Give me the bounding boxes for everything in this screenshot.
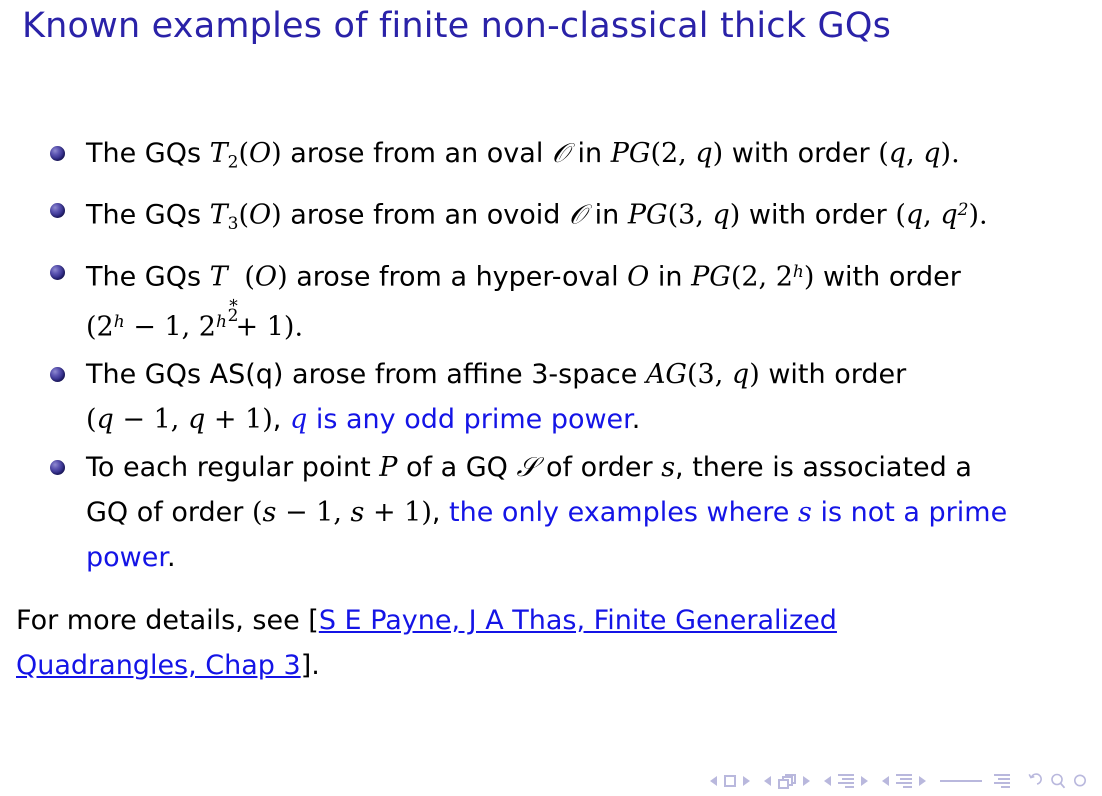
lines-icon[interactable] [838,774,854,788]
nav-group-tools [1024,772,1088,790]
list-item: The GQs T∗2(O) arose from a hyper-oval O… [48,250,1088,349]
reference-close-bracket: ] [301,650,312,681]
nav-group-frame [764,774,810,789]
bullet-text-t3-ovoid: The GQs T3(O) arose from an ovoid 𝒪 in P… [86,188,1088,247]
list-item: The GQs T2(O) arose from an oval 𝒪 in PG… [48,131,1088,185]
nav-group-slide [710,775,750,787]
bullet-sphere-icon [50,367,65,382]
beamer-navigation-bar[interactable] [710,769,1102,793]
circle-icon[interactable] [1074,772,1088,790]
triangle-left-icon[interactable] [824,776,831,786]
bullet-sphere-icon [50,146,65,161]
stacked-frames-icon[interactable] [778,774,796,789]
reference-note: For more details, see [S E Payne, J A Th… [16,598,1016,688]
undo-arrow-icon[interactable] [1024,772,1042,790]
reference-open-bracket: [ [308,605,319,636]
triangle-right-icon[interactable] [919,776,926,786]
list-item: The GQs AS(q) arose from affine 3-space … [48,352,1088,442]
list-item: To each regular point P of a GQ 𝒮 of ord… [48,445,1088,580]
bullet-list: The GQs T2(O) arose from an oval 𝒪 in PG… [48,131,1088,583]
triangle-left-icon[interactable] [764,776,771,786]
bullet-sphere-icon [50,203,65,218]
triangle-right-icon[interactable] [743,776,750,786]
list-item: The GQs T3(O) arose from an ovoid 𝒪 in P… [48,188,1088,247]
lines-icon[interactable] [994,774,1010,788]
triangle-left-icon[interactable] [710,776,717,786]
bullet-text-t2star-hyperoval: The GQs T∗2(O) arose from a hyper-oval O… [86,250,1088,349]
square-icon[interactable] [724,775,736,787]
bullet-sphere-icon [50,265,65,280]
reference-trailing-period: . [311,650,320,681]
triangle-right-icon[interactable] [803,776,810,786]
magnifier-icon[interactable] [1049,772,1067,790]
triangle-right-icon[interactable] [861,776,868,786]
lines-icon[interactable] [896,774,912,788]
nav-divider [940,780,982,782]
reference-lead-text: For more details, see [16,605,308,636]
nav-group-presentation [994,774,1010,788]
nav-group-section [882,774,926,788]
bullet-sphere-icon [50,460,65,475]
page-title: Known examples of finite non-classical t… [22,4,891,48]
nav-group-subsection [824,774,868,788]
bullet-text-t2-oval: The GQs T2(O) arose from an oval 𝒪 in PG… [86,131,1088,185]
triangle-left-icon[interactable] [882,776,889,786]
bullet-text-regular-point: To each regular point P of a GQ 𝒮 of ord… [86,445,1088,580]
bullet-text-as-q: The GQs AS(q) arose from affine 3-space … [86,352,1088,442]
